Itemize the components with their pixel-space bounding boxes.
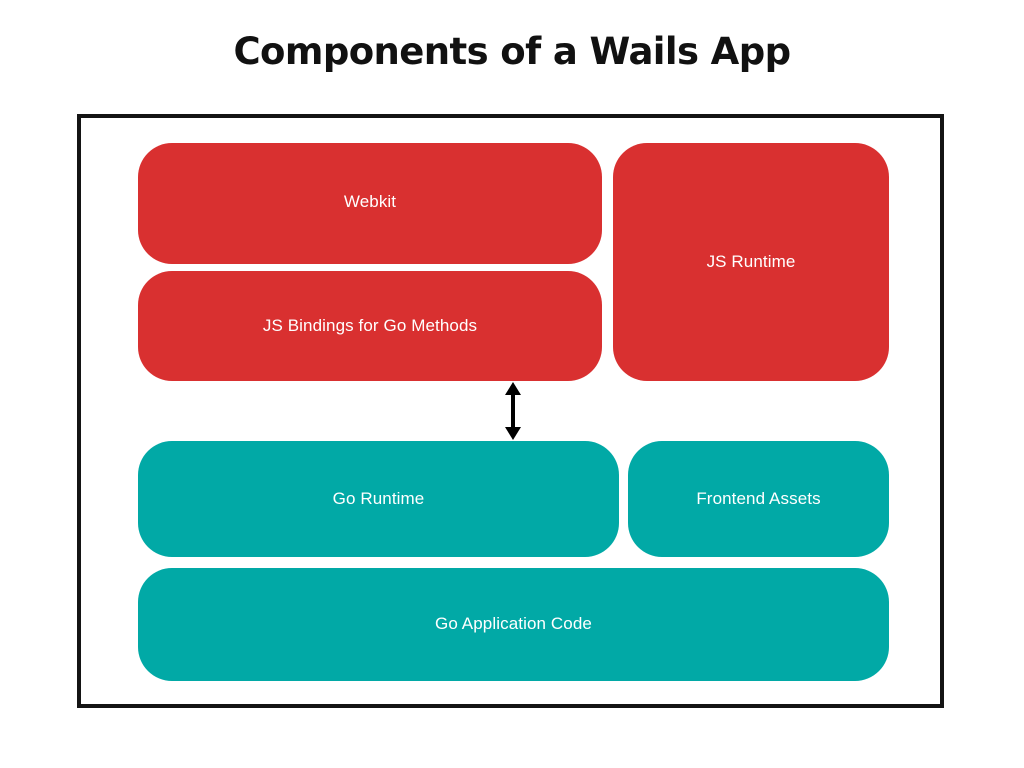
component-label-frontend-assets: Frontend Assets (696, 489, 820, 509)
page-title: Components of a Wails App (0, 28, 1024, 76)
component-box-go-application-code[interactable]: Go Application Code (138, 568, 889, 681)
component-label-go-application-code: Go Application Code (435, 614, 592, 634)
double-headed-vertical-arrow-svg (498, 380, 528, 442)
component-label-go-runtime: Go Runtime (333, 489, 425, 509)
component-box-webkit[interactable]: Webkit (138, 143, 602, 264)
component-label-js-runtime: JS Runtime (707, 252, 796, 272)
component-box-go-runtime[interactable]: Go Runtime (138, 441, 619, 557)
component-box-js-runtime[interactable]: JS Runtime (613, 143, 889, 381)
component-box-js-bindings-for-go-methods[interactable]: JS Bindings for Go Methods (138, 271, 602, 381)
component-label-js-bindings-for-go-methods: JS Bindings for Go Methods (263, 316, 477, 336)
component-box-frontend-assets[interactable]: Frontend Assets (628, 441, 889, 557)
component-label-webkit: Webkit (344, 192, 396, 212)
double-headed-vertical-arrow-icon (498, 380, 528, 442)
